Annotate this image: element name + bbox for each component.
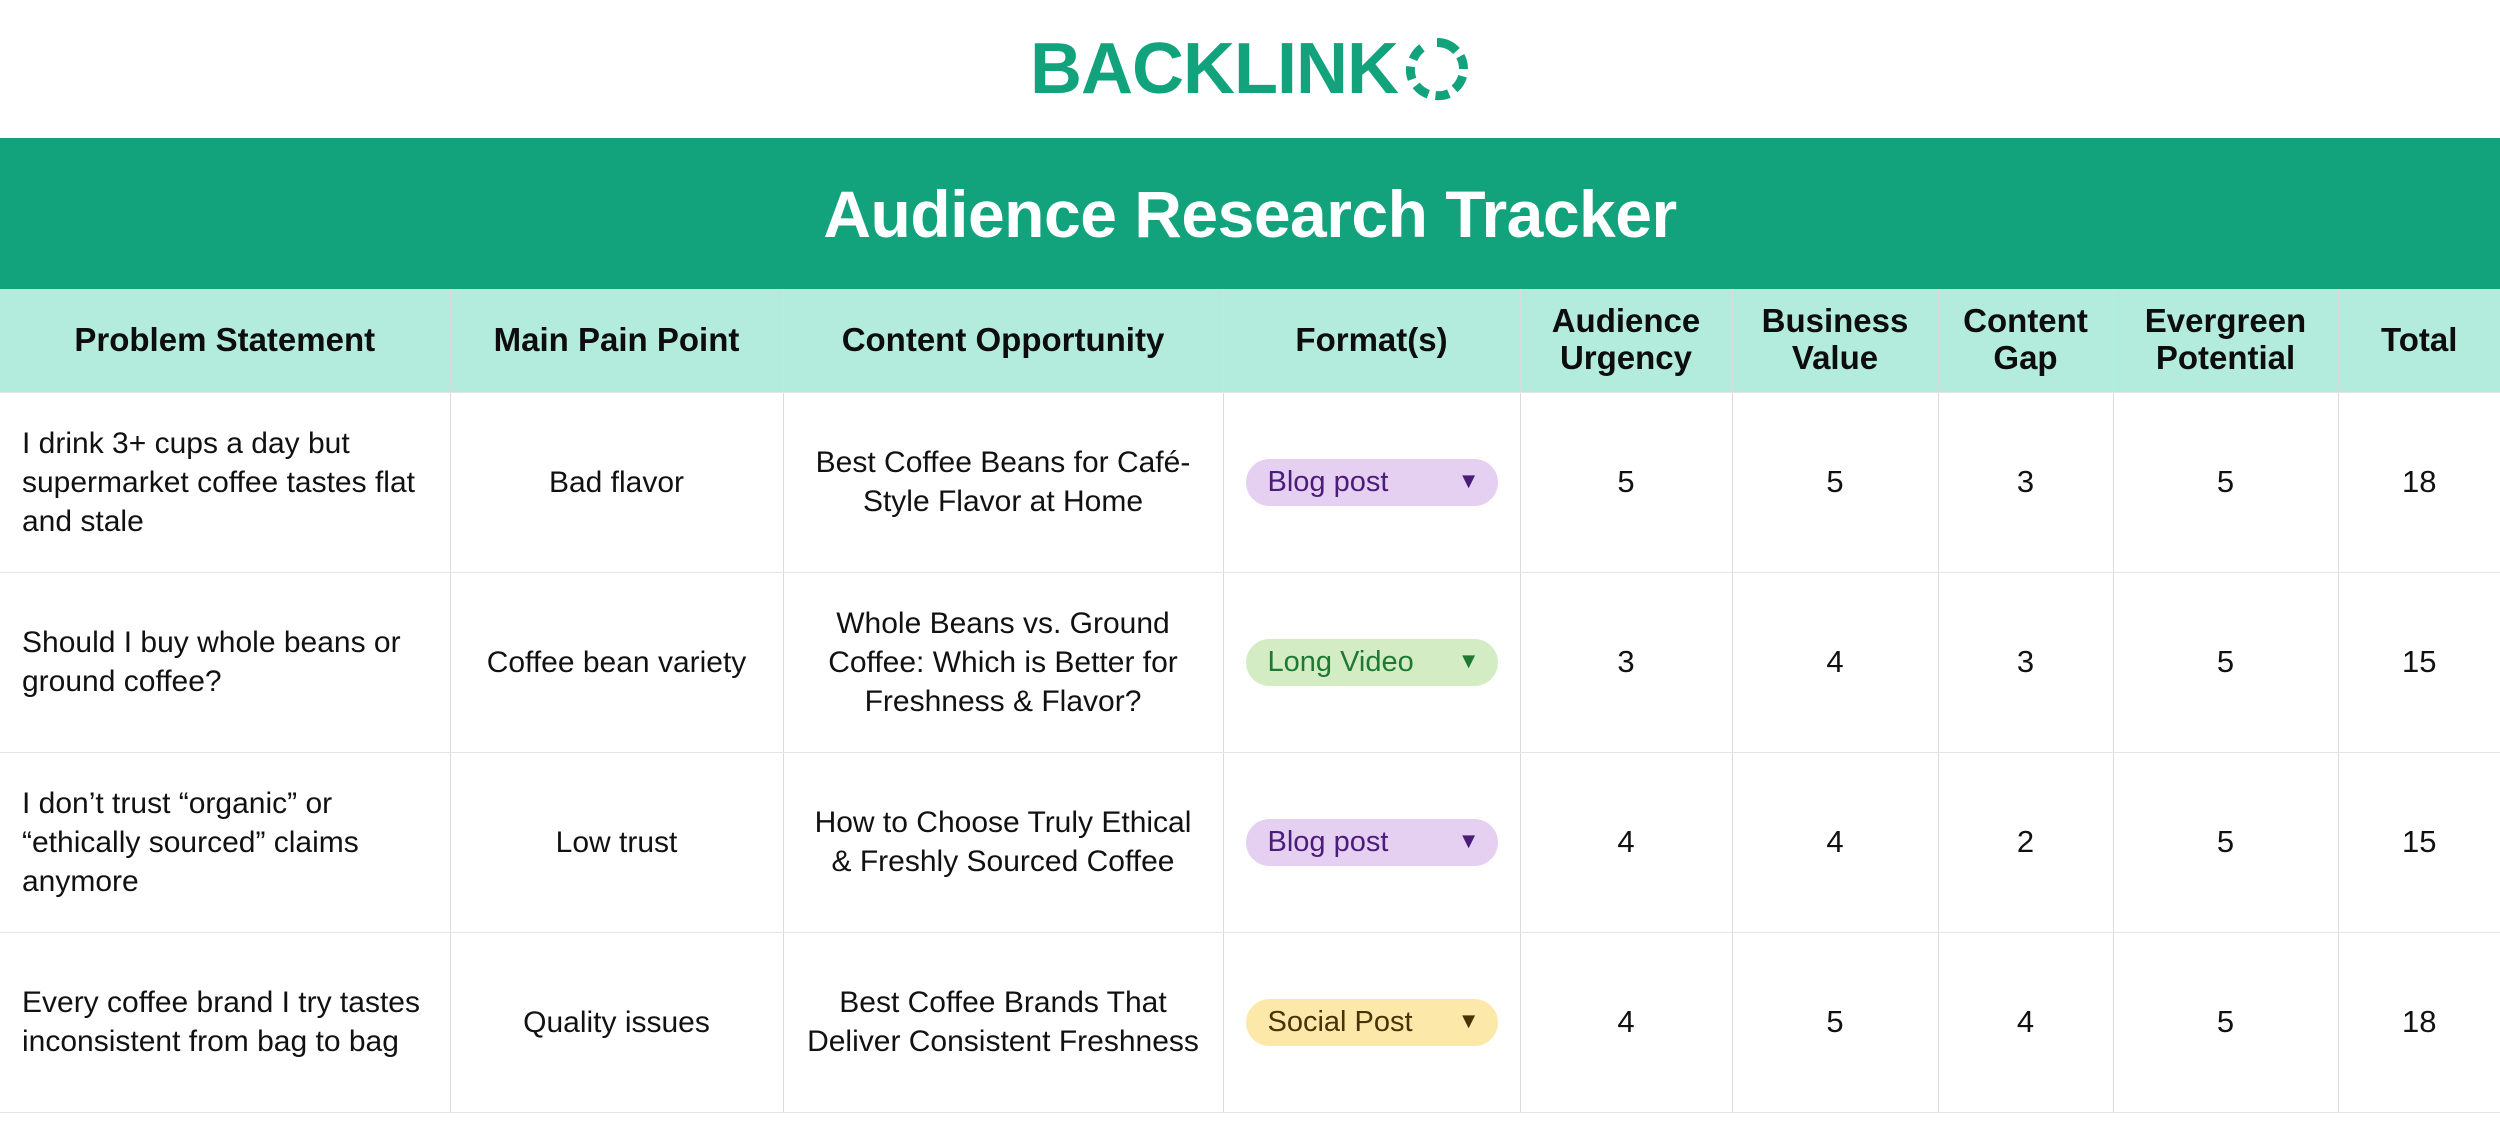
cell-evergreen-potential: 5 [2113, 392, 2338, 572]
cell-format: Blog post ▼ [1223, 392, 1520, 572]
table-row: I don’t trust “organic” or “ethically so… [0, 752, 2500, 932]
column-header-total[interactable]: Total [2338, 289, 2500, 392]
cell-content-gap: 3 [1938, 572, 2113, 752]
column-header-evergreen-potential[interactable]: Evergreen Potential [2113, 289, 2338, 392]
cell-main-pain-point: Low trust [450, 752, 783, 932]
cell-format: Long Video ▼ [1223, 572, 1520, 752]
cell-business-value: 5 [1732, 392, 1938, 572]
column-header-content-opportunity[interactable]: Content Opportunity [783, 289, 1223, 392]
cell-business-value: 4 [1732, 572, 1938, 752]
cell-content-opportunity: Whole Beans vs. Ground Coffee: Which is … [783, 572, 1223, 752]
cell-evergreen-potential: 5 [2113, 572, 2338, 752]
cell-business-value: 4 [1732, 752, 1938, 932]
column-header-audience-urgency[interactable]: Audience Urgency [1520, 289, 1732, 392]
cell-content-opportunity: Best Coffee Brands That Deliver Consiste… [783, 932, 1223, 1112]
cell-content-gap: 4 [1938, 932, 2113, 1112]
table-header-row: Problem Statement Main Pain Point Conten… [0, 289, 2500, 392]
cell-audience-urgency: 4 [1520, 752, 1732, 932]
format-dropdown-chip[interactable]: Blog post ▼ [1246, 819, 1498, 866]
page-title: Audience Research Tracker [823, 181, 1676, 247]
column-header-main-pain-point[interactable]: Main Pain Point [450, 289, 783, 392]
table-row: Every coffee brand I try tastes inconsis… [0, 932, 2500, 1112]
cell-format: Social Post ▼ [1223, 932, 1520, 1112]
chevron-down-icon[interactable]: ▼ [1458, 1010, 1480, 1032]
cell-main-pain-point: Coffee bean variety [450, 572, 783, 752]
backlinko-logo: BACKLINK [1030, 33, 1470, 105]
cell-format: Blog post ▼ [1223, 752, 1520, 932]
format-chip-label: Long Video [1268, 648, 1414, 677]
cell-total: 15 [2338, 572, 2500, 752]
page-title-band: Audience Research Tracker [0, 138, 2500, 289]
cell-evergreen-potential: 5 [2113, 752, 2338, 932]
cell-content-gap: 2 [1938, 752, 2113, 932]
cell-total: 18 [2338, 392, 2500, 572]
cell-audience-urgency: 3 [1520, 572, 1732, 752]
table-header: Problem Statement Main Pain Point Conten… [0, 289, 2500, 392]
chevron-down-icon[interactable]: ▼ [1458, 830, 1480, 852]
cell-main-pain-point: Quality issues [450, 932, 783, 1112]
cell-business-value: 5 [1732, 932, 1938, 1112]
format-chip-label: Social Post [1268, 1008, 1413, 1037]
cell-content-opportunity: How to Choose Truly Ethical & Freshly So… [783, 752, 1223, 932]
cell-problem-statement: Every coffee brand I try tastes inconsis… [0, 932, 450, 1112]
cell-content-gap: 3 [1938, 392, 2113, 572]
format-dropdown-chip[interactable]: Social Post ▼ [1246, 999, 1498, 1046]
column-header-problem-statement[interactable]: Problem Statement [0, 289, 450, 392]
cell-problem-statement: I don’t trust “organic” or “ethically so… [0, 752, 450, 932]
format-dropdown-chip[interactable]: Blog post ▼ [1246, 459, 1498, 506]
cell-audience-urgency: 4 [1520, 932, 1732, 1112]
cell-total: 15 [2338, 752, 2500, 932]
cell-main-pain-point: Bad flavor [450, 392, 783, 572]
table-body: I drink 3+ cups a day but supermarket co… [0, 392, 2500, 1112]
cell-problem-statement: I drink 3+ cups a day but supermarket co… [0, 392, 450, 572]
cell-content-opportunity: Best Coffee Beans for Café-Style Flavor … [783, 392, 1223, 572]
chevron-down-icon[interactable]: ▼ [1458, 650, 1480, 672]
chevron-down-icon[interactable]: ▼ [1458, 470, 1480, 492]
cell-audience-urgency: 5 [1520, 392, 1732, 572]
brand-bar: BACKLINK [0, 0, 2500, 138]
logo-wordmark: BACKLINK [1030, 33, 1398, 105]
table-row: Should I buy whole beans or ground coffe… [0, 572, 2500, 752]
column-header-content-gap[interactable]: Content Gap [1938, 289, 2113, 392]
column-header-formats[interactable]: Format(s) [1223, 289, 1520, 392]
column-header-business-value[interactable]: Business Value [1732, 289, 1938, 392]
format-dropdown-chip[interactable]: Long Video ▼ [1246, 639, 1498, 686]
format-chip-label: Blog post [1268, 828, 1389, 857]
cell-problem-statement: Should I buy whole beans or ground coffe… [0, 572, 450, 752]
segmented-circle-o-icon [1404, 36, 1470, 102]
audience-research-table: Problem Statement Main Pain Point Conten… [0, 289, 2500, 1113]
cell-total: 18 [2338, 932, 2500, 1112]
cell-evergreen-potential: 5 [2113, 932, 2338, 1112]
table-row: I drink 3+ cups a day but supermarket co… [0, 392, 2500, 572]
format-chip-label: Blog post [1268, 468, 1389, 497]
